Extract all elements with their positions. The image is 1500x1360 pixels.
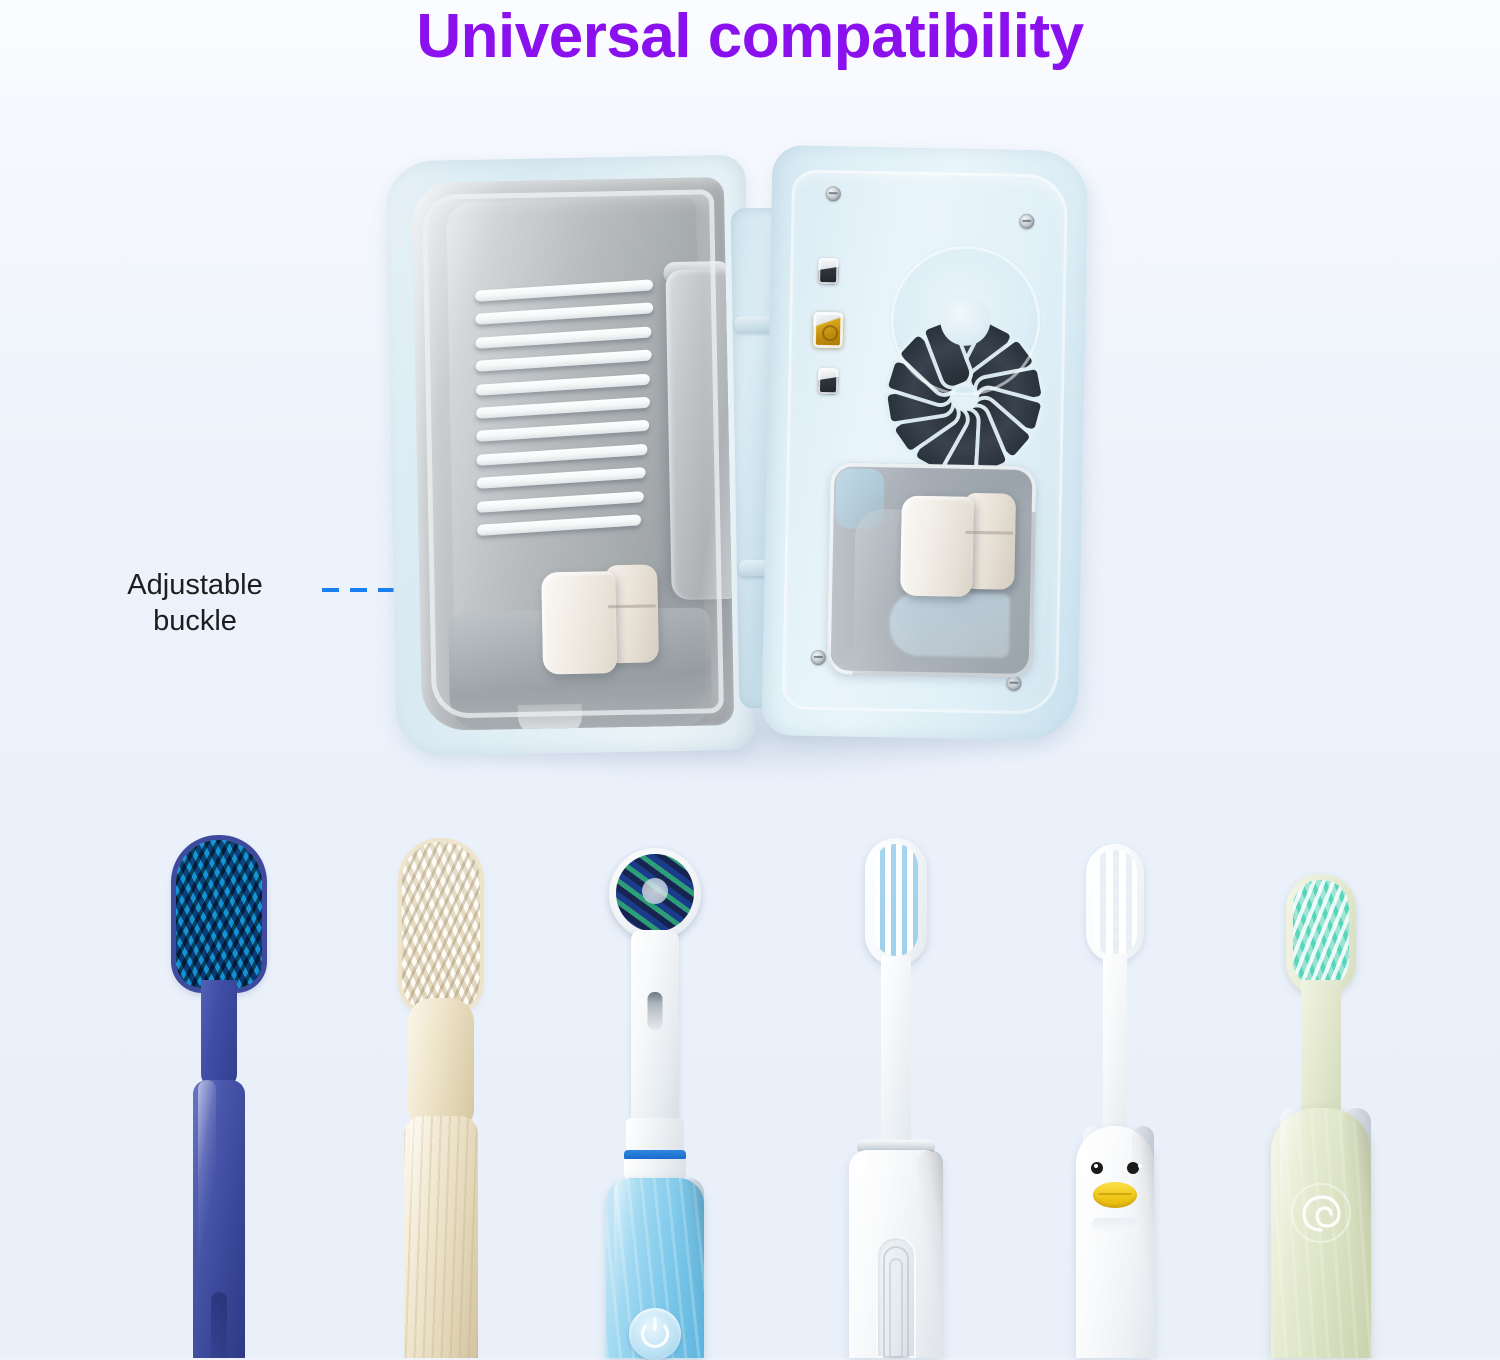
annotation-label-line-2: buckle <box>70 603 320 639</box>
toothbrush-electric-sage-green <box>1262 830 1380 1358</box>
case-left-half <box>385 155 756 757</box>
uv-led-bottom <box>818 368 838 394</box>
brush-neck <box>1103 954 1127 1140</box>
fan-grille <box>888 243 1043 398</box>
duck-face-icon <box>1079 1162 1151 1232</box>
toothbrush-kids-duck-white <box>1062 830 1168 1358</box>
power-button-icon[interactable] <box>629 1308 681 1360</box>
uv-sanitizer-case <box>383 148 1093 763</box>
power-button-icon[interactable] <box>876 1236 916 1358</box>
brush-handle <box>404 1116 478 1358</box>
annotation-label-line-1: Adjustable <box>70 567 320 603</box>
screw <box>1006 676 1021 691</box>
duck-feet <box>1092 1218 1138 1232</box>
case-tray <box>412 177 734 731</box>
mirror-panel <box>827 462 1037 678</box>
brush-handle <box>1076 1126 1154 1358</box>
spiral-emblem-icon[interactable] <box>1290 1182 1352 1244</box>
spiral-icon <box>1290 1182 1352 1244</box>
toothbrush-electric-sonic-white <box>840 830 952 1358</box>
screw <box>826 186 841 201</box>
case-right-half <box>761 145 1088 741</box>
duck-eye-right <box>1127 1162 1139 1174</box>
brush-neck <box>408 998 474 1128</box>
toothbrush-electric-rotary-blue <box>592 830 718 1358</box>
brush-neck <box>881 956 911 1148</box>
brush-head-bristles <box>874 844 918 956</box>
brush-head-bristles <box>402 842 480 1012</box>
brush-head-bristles <box>1093 850 1137 956</box>
lid-inner-panel <box>782 169 1068 714</box>
screw <box>811 650 826 665</box>
annotation-label: Adjustable buckle <box>70 567 320 639</box>
product-infographic: Universal compatibility Adjustable buckl… <box>0 0 1500 1358</box>
brush-head-bristles <box>176 840 262 988</box>
brush-head-bristles <box>1293 880 1349 988</box>
brush-head-center-tuft <box>642 878 668 904</box>
toothbrush-manual-navy <box>160 830 278 1358</box>
screw <box>1019 214 1034 229</box>
compatible-toothbrush-row <box>0 830 1500 1358</box>
toothbrush-bamboo-cream <box>382 830 500 1358</box>
page-title: Universal compatibility <box>0 2 1500 72</box>
tray-rim <box>422 189 724 719</box>
brush-handle-groove <box>211 1292 227 1358</box>
duck-beak <box>1093 1182 1137 1208</box>
uv-led-top <box>818 258 838 284</box>
brush-shaft-indicator <box>648 992 663 1030</box>
brush-neck <box>201 980 237 1088</box>
uv-lamp-gold <box>813 312 844 349</box>
